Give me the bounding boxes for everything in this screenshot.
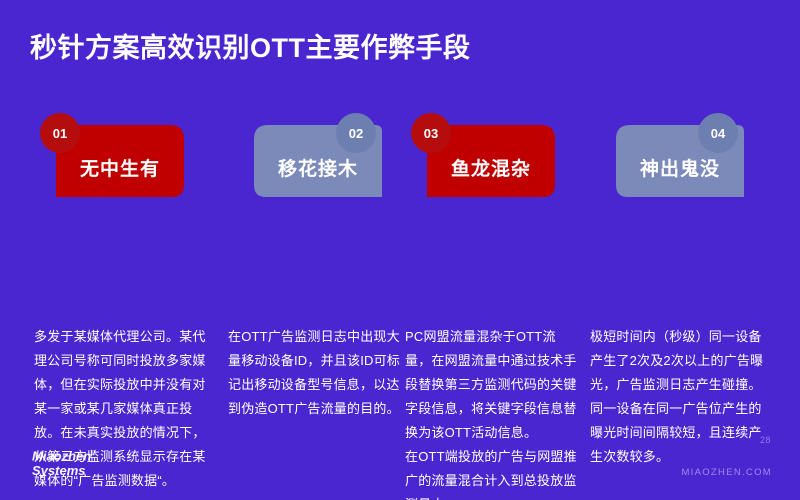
- page-number: 28: [760, 435, 771, 445]
- body-paragraph: PC网盟流量混杂于OTT流量，在网盟流量中通过技术手段替换第三方监测代码的关键字…: [405, 325, 581, 445]
- number-badge-label: 03: [424, 126, 438, 141]
- number-badge: 04: [698, 113, 738, 153]
- banner-wrap: 神出鬼没 04: [590, 113, 766, 205]
- body-paragraph: 极短时间内（秒级）同一设备产生了2次及2次以上的广告曝光，广告监测日志产生碰撞。: [590, 325, 766, 397]
- site-url: MIAOZHEN.COM: [681, 467, 772, 478]
- banner-label: 鱼龙混杂: [451, 142, 531, 181]
- brand-logo-line2: Systems: [32, 463, 96, 478]
- number-badge-label: 04: [711, 126, 725, 141]
- banner-wrap: 移花接木 02: [228, 113, 404, 205]
- column-body: 在OTT广告监测日志中出现大量移动设备ID，并且该ID可标记出移动设备型号信息，…: [228, 325, 404, 421]
- column-body: PC网盟流量混杂于OTT流量，在网盟流量中通过技术手段替换第三方监测代码的关键字…: [405, 325, 581, 500]
- column-body: 极短时间内（秒级）同一设备产生了2次及2次以上的广告曝光，广告监测日志产生碰撞。…: [590, 325, 766, 469]
- feature-column: 移花接木 02 在OTT广告监测日志中出现大量移动设备ID，并且该ID可标记出移…: [228, 113, 404, 205]
- number-badge-label: 01: [53, 126, 67, 141]
- body-paragraph: 在OTT端投放的广告与网盟推广的流量混合计入到总投放监测量中。: [405, 445, 581, 500]
- number-badge: 02: [336, 113, 376, 153]
- brand-logo-name: Miaozhen: [32, 448, 91, 463]
- number-badge: 01: [40, 113, 80, 153]
- page-title: 秒针方案高效识别OTT主要作弊手段: [30, 26, 471, 65]
- slide-root: 秒针方案高效识别OTT主要作弊手段 无中生有 01 多发于某媒体代理公司。某代理…: [0, 0, 800, 500]
- feature-column: 神出鬼没 04 极短时间内（秒级）同一设备产生了2次及2次以上的广告曝光，广告监…: [590, 113, 766, 205]
- feature-column: 鱼龙混杂 03 PC网盟流量混杂于OTT流量，在网盟流量中通过技术手段替换第三方…: [405, 113, 581, 205]
- banner-wrap: 鱼龙混杂 03: [405, 113, 581, 205]
- trademark-icon: ®: [91, 451, 95, 457]
- number-badge: 03: [411, 113, 451, 153]
- brand-logo-line1: Miaozhen®: [32, 447, 96, 463]
- body-paragraph: 在OTT广告监测日志中出现大量移动设备ID，并且该ID可标记出移动设备型号信息，…: [228, 325, 404, 421]
- banner-label: 无中生有: [80, 142, 160, 181]
- number-badge-label: 02: [349, 126, 363, 141]
- banner-wrap: 无中生有 01: [34, 113, 210, 205]
- feature-column: 无中生有 01 多发于某媒体代理公司。某代理公司号称可同时投放多家媒体，但在实际…: [34, 113, 210, 205]
- body-paragraph: 同一设备在同一广告位产生的曝光时间间隔较短，且连续产生次数较多。: [590, 397, 766, 469]
- brand-logo: Miaozhen® Systems: [32, 447, 96, 478]
